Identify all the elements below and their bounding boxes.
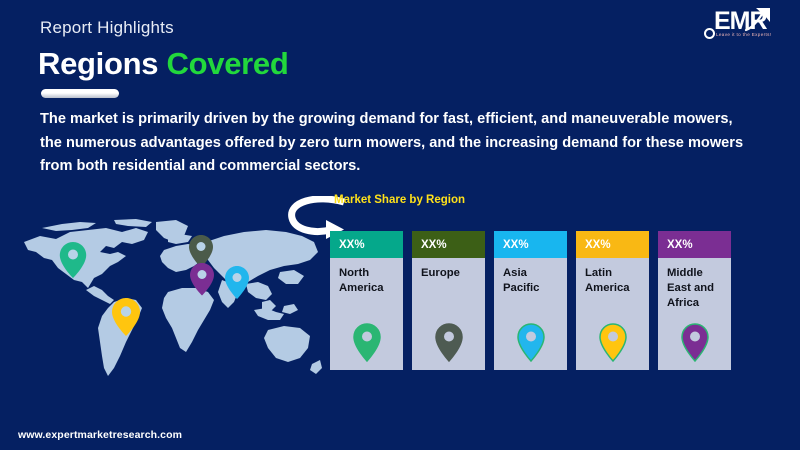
location-pin-icon: [680, 323, 710, 363]
callout-label: Market Share by Region: [334, 194, 465, 206]
logo-wordmark: EMR: [714, 9, 767, 34]
region-name: Asia Pacific: [494, 258, 567, 296]
page-title-word-accent: Covered: [167, 46, 289, 81]
region-card-header: XX%: [412, 231, 485, 258]
title-underline-bar: [41, 89, 119, 98]
region-name: Middle East and Africa: [658, 258, 731, 311]
location-pin-icon: [352, 323, 382, 363]
logo-tagline: Leave it to the Experts!: [716, 32, 771, 37]
location-pin-icon: [598, 323, 628, 363]
region-pin: [494, 323, 567, 363]
page-title-word-primary: Regions: [38, 46, 158, 81]
map-pin-latin-america: [112, 298, 140, 336]
region-percent: XX%: [585, 239, 611, 251]
region-percent: XX%: [503, 239, 529, 251]
map-pin-europe: [189, 235, 213, 268]
map-pin-layer: [18, 218, 324, 388]
footer-url[interactable]: www.expertmarketresearch.com: [18, 429, 182, 441]
body-paragraph: The market is primarily driven by the gr…: [40, 108, 755, 179]
region-card-europe[interactable]: XX% Europe: [412, 231, 485, 370]
region-card-latin-america[interactable]: XX% Latin America: [576, 231, 649, 370]
page-title: Regions Covered: [38, 46, 288, 82]
eyebrow-label: Report Highlights: [40, 18, 174, 38]
region-card-header: XX%: [494, 231, 567, 258]
region-pin: [658, 323, 731, 363]
location-pin-icon: [434, 323, 464, 363]
region-pin: [576, 323, 649, 363]
emr-logo: EMR Leave it to the Experts!: [698, 6, 790, 46]
region-card-middle-east-and-africa[interactable]: XX% Middle East and Africa: [658, 231, 731, 370]
region-card-north-america[interactable]: XX% North America: [330, 231, 403, 370]
region-percent: XX%: [339, 239, 365, 251]
region-percent: XX%: [667, 239, 693, 251]
region-card-asia-pacific[interactable]: XX% Asia Pacific: [494, 231, 567, 370]
map-pin-middle-east-africa: [190, 263, 214, 296]
map-pin-north-america: [60, 242, 86, 278]
region-name: Europe: [412, 258, 485, 281]
region-pin: [330, 323, 403, 363]
region-cards: XX% North America XX% Europe: [330, 231, 778, 370]
region-card-header: XX%: [330, 231, 403, 258]
region-percent: XX%: [421, 239, 447, 251]
region-pin: [412, 323, 485, 363]
map-pin-asia-pacific: [225, 266, 249, 299]
region-name: Latin America: [576, 258, 649, 296]
region-card-header: XX%: [576, 231, 649, 258]
region-card-header: XX%: [658, 231, 731, 258]
world-map: [18, 218, 324, 388]
slide-canvas: Report Highlights Regions Covered EMR Le…: [0, 0, 800, 450]
region-name: North America: [330, 258, 403, 296]
location-pin-icon: [516, 323, 546, 363]
